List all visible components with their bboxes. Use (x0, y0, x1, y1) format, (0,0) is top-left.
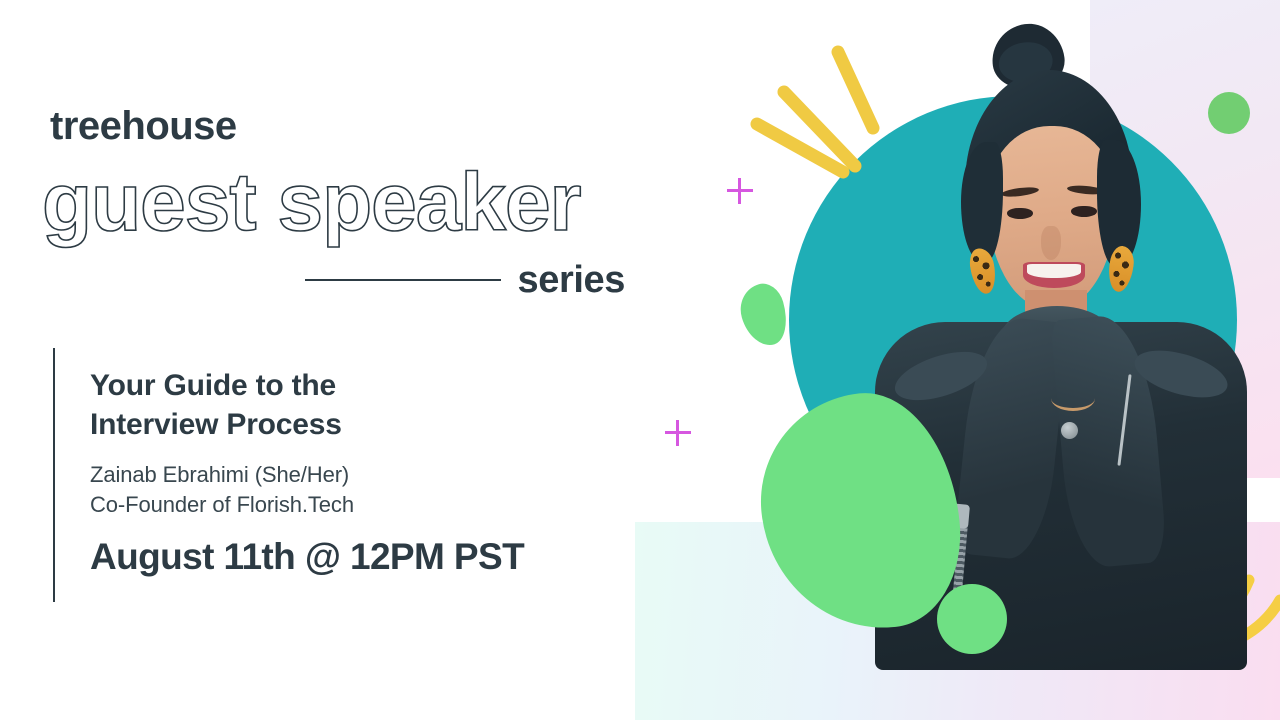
plus-mark-icon (727, 178, 753, 204)
plus-mark-icon (665, 420, 691, 446)
green-circle-bottom (937, 584, 1007, 654)
teeth (1027, 264, 1081, 278)
talk-title-line-2: Interview Process (90, 408, 342, 441)
necklace (1051, 386, 1095, 411)
headline-guest-speaker: guest speaker (42, 160, 581, 246)
series-divider-rule (305, 279, 501, 281)
nose (1041, 226, 1061, 260)
session-datetime: August 11th @ 12PM PST (90, 537, 630, 578)
talk-title: Your Guide to the Interview Process (90, 366, 630, 444)
eye-left (1007, 208, 1033, 219)
speaker-name: Zainab Ebrahimi (She/Her) (90, 460, 630, 490)
eye-right (1071, 206, 1097, 217)
speaker-role: Co-Founder of Florish.Tech (90, 490, 630, 520)
promo-slide: treehouse guest speaker series Your Guid… (0, 0, 1280, 720)
mouth (1023, 262, 1085, 288)
earring-left (967, 246, 999, 295)
session-details: Your Guide to the Interview Process Zain… (90, 366, 630, 578)
details-accent-rule (53, 348, 55, 602)
treehouse-wordmark: treehouse (50, 106, 237, 146)
hair-side-left (961, 142, 1003, 262)
series-label: series (518, 261, 625, 299)
talk-title-line-1: Your Guide to the (90, 369, 336, 402)
jacket-snap-button (1061, 422, 1078, 439)
series-row: series (305, 256, 625, 304)
